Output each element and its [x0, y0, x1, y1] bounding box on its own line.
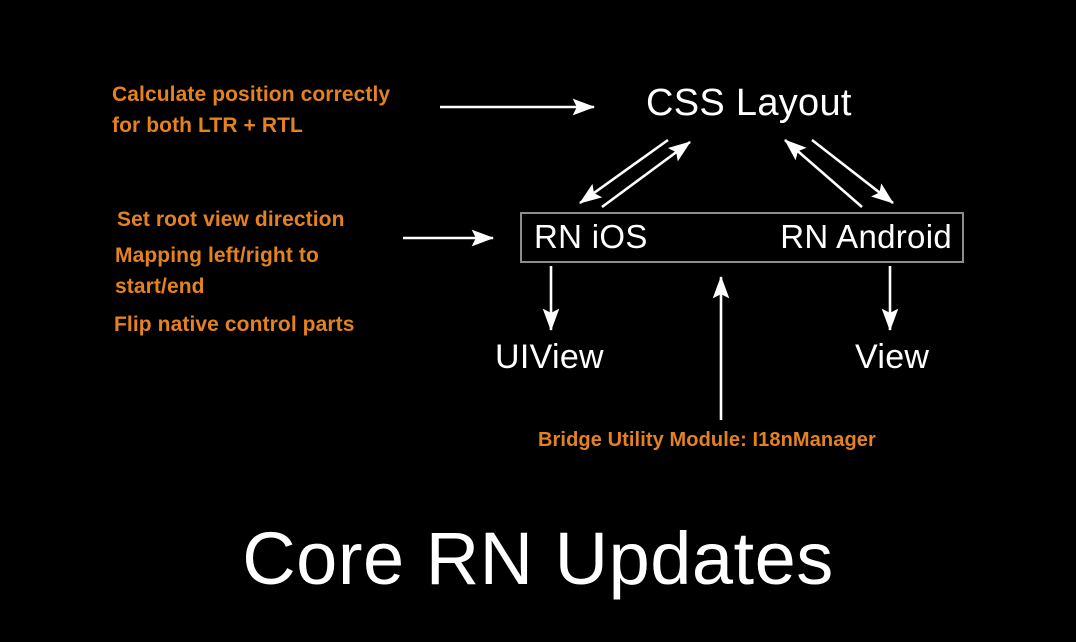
annotation-root-view-direction: Set root view direction [117, 205, 417, 236]
rn-platform-box: RN iOS RN Android [520, 212, 964, 263]
arrow-rn-android-to-css-layout [785, 140, 862, 207]
slide-canvas: Calculate position correctly for both LT… [0, 0, 1076, 642]
node-uiview: UIView [495, 338, 604, 377]
slide-title: Core RN Updates [0, 516, 1076, 601]
arrow-css-layout-to-rn-ios [580, 140, 668, 203]
annotation-layout-note: Calculate position correctly for both LT… [112, 80, 442, 142]
node-css-layout: CSS Layout [646, 82, 852, 125]
annotation-flip-native-control: Flip native control parts [114, 310, 414, 341]
annotation-bridge-utility-module: Bridge Utility Module: I18nManager [538, 426, 958, 455]
arrow-css-layout-to-rn-android [812, 140, 893, 203]
annotation-mapping-left-right: Mapping left/right to start/end [115, 241, 395, 303]
node-rn-ios: RN iOS [534, 218, 648, 256]
node-view: View [855, 338, 929, 377]
arrow-rn-ios-to-css-layout [602, 142, 690, 207]
node-rn-android: RN Android [780, 218, 952, 256]
